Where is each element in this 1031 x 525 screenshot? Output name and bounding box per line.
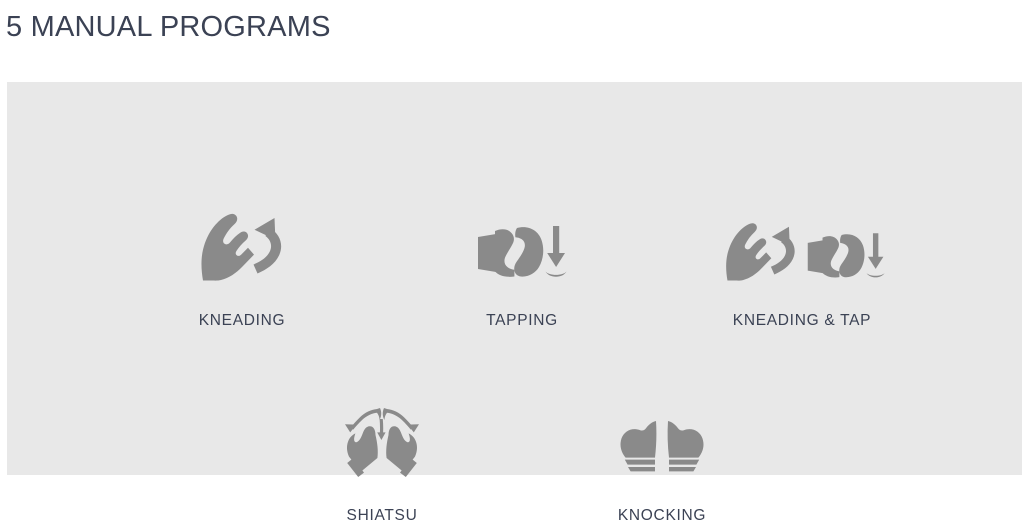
program-label: KNEADING (132, 312, 352, 330)
tapping-fist-icon (412, 204, 632, 282)
page-header: 5 MANUAL PROGRAMS (0, 0, 1031, 82)
program-item-knocking[interactable]: KNOCKING (552, 399, 772, 525)
program-label: KNOCKING (552, 507, 772, 525)
program-label: TAPPING (412, 312, 632, 330)
shiatsu-two-hands-icon (272, 399, 492, 477)
program-label: KNEADING & TAP (692, 312, 912, 330)
kneading-and-tapping-icon (692, 204, 912, 282)
knocking-two-fists-icon (552, 399, 772, 477)
program-item-kneading[interactable]: KNEADING (132, 204, 352, 330)
program-item-kneading-and-tap[interactable]: KNEADING & TAP (692, 204, 912, 330)
page-root: 5 MANUAL PROGRAMS KNEADING (0, 0, 1031, 475)
program-item-tapping[interactable]: TAPPING (412, 204, 632, 330)
page-title: 5 MANUAL PROGRAMS (6, 7, 331, 47)
programs-panel: KNEADING (7, 82, 1022, 475)
program-label: SHIATSU (272, 507, 492, 525)
program-item-shiatsu[interactable]: SHIATSU (272, 399, 492, 525)
kneading-hand-icon (132, 204, 352, 282)
